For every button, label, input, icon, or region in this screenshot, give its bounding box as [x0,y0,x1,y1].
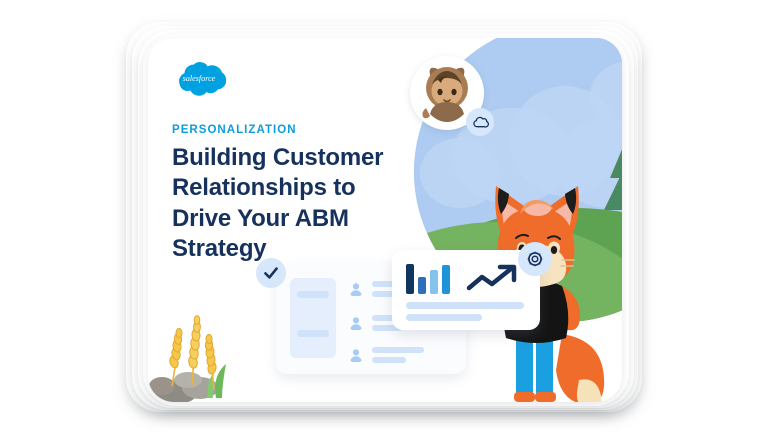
eyebrow-label: PERSONALIZATION [172,124,412,136]
cloud-badge-icon [466,108,494,136]
chart-bar [442,265,450,294]
headline-line-3: Drive Your ABM [172,205,349,232]
panel-skeleton-bar [297,291,329,298]
poster-stage: salesforce PERSONALIZATION Building Cust… [0,0,768,432]
chart-bar [430,270,438,294]
chart-bar [418,277,426,294]
panel-skeleton-bar [297,330,329,337]
person-avatar-icon [348,281,364,297]
headline-line-1: Building Customer [172,144,383,171]
side-panel-placeholder [290,278,336,358]
skeleton-bar [372,347,424,353]
cover-text-block: salesforce PERSONALIZATION Building Cust… [172,58,412,265]
salesforce-wordmark: salesforce [183,74,216,83]
gear-settings-icon [518,242,552,276]
skeleton-bar [372,357,406,363]
salesforce-cloud-logo[interactable]: salesforce [172,58,226,96]
bar-chart [406,262,450,294]
ebook-cover-card[interactable]: salesforce PERSONALIZATION Building Cust… [148,38,622,402]
person-avatar-icon [348,315,364,331]
trending-up-arrow-icon [466,264,522,294]
cloud-icon [472,116,489,128]
skeleton-bar [406,302,524,309]
skeleton-bar [406,314,482,321]
page-title: Building Customer Relationships to Drive… [172,143,412,265]
salesforce-logo-icon: salesforce [172,58,226,96]
headline-line-4: Strategy [172,235,266,262]
chart-bar [406,264,414,294]
gear-icon [526,250,544,268]
wheat-and-rocks-decoration [148,306,272,402]
flora-icon [148,306,272,402]
person-avatar-icon [348,347,364,363]
check-circle-icon [256,258,286,288]
headline-line-2: Relationships to [172,174,355,201]
ui-illustration-cluster [256,250,556,380]
check-icon [263,265,279,281]
